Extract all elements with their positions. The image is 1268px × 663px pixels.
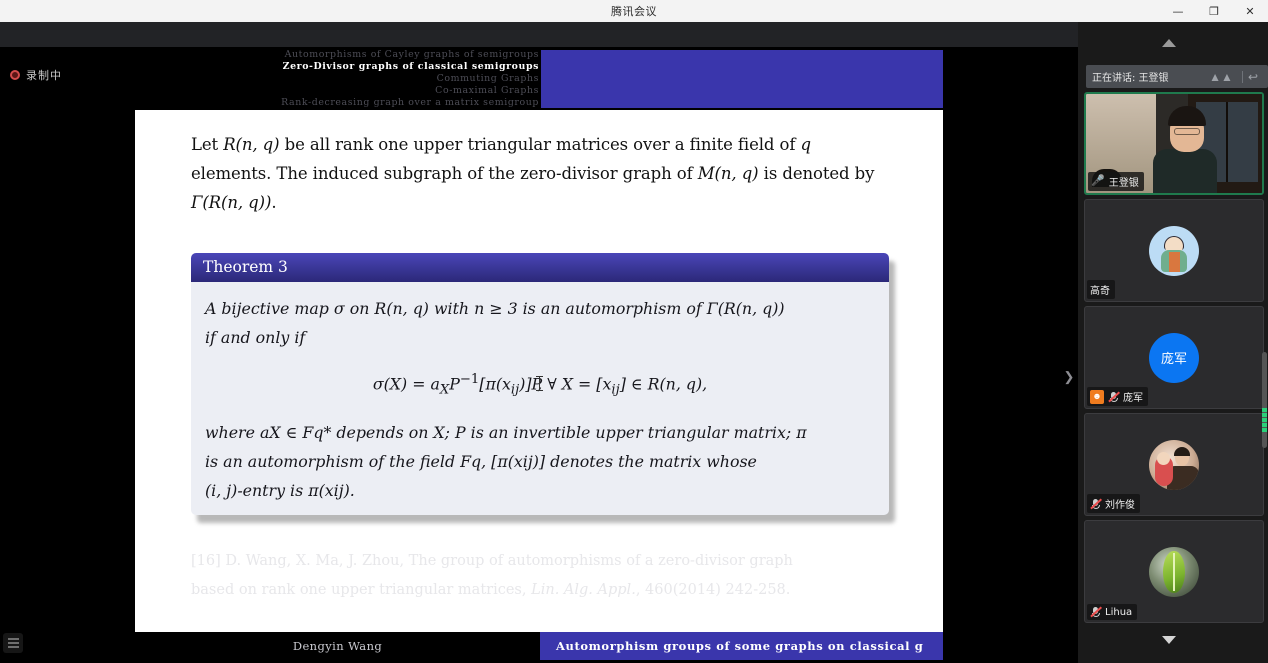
theorem-equation: σ(X) = aXP−1[π(xij)]P, ∀ X = [xij] ∈ R(n… (205, 365, 875, 404)
biblio-line-2: based on rank one upper triangular matri… (191, 576, 887, 605)
intro-text-c: elements. The induced subgraph of the ze… (191, 164, 698, 183)
host-icon: ☻ (1090, 390, 1104, 404)
mic-on-icon: 🎤 (1091, 176, 1105, 187)
chevron-right-icon[interactable]: ❯ (1062, 367, 1076, 387)
mountains-icon[interactable]: ▲▲ (1209, 70, 1233, 84)
theorem-block: Theorem 3 A bijective map σ on R(n, q) w… (191, 253, 889, 515)
shared-slide: Automorphisms of Cayley graphs of semigr… (135, 48, 943, 660)
slide-header: Automorphisms of Cayley graphs of semigr… (135, 48, 943, 110)
intro-symbol-R: R(n, q) (223, 135, 279, 154)
participant-name-badge: Lihua (1087, 604, 1137, 620)
close-icon[interactable]: ✕ (1232, 0, 1268, 22)
participants-sidebar: 正在讲话: 王登银 ▲▲ ↩ (1078, 22, 1268, 663)
theorem-line-3: where aX ∈ Fq* depends on X; P is an inv… (205, 418, 875, 447)
eq-sup-inverse: −1 (460, 372, 479, 387)
slide-intro-paragraph: Let R(n, q) be all rank one upper triang… (191, 130, 887, 217)
theorem-line-1: A bijective map σ on R(n, q) with n ≥ 3 … (205, 294, 875, 323)
footer-author: Dengyin Wang (135, 639, 540, 653)
eq-part-P: P (449, 374, 460, 393)
stage-top-strip (0, 22, 1078, 47)
divider (1242, 71, 1243, 83)
meeting-stage: 录制中 Automorphisms of Cayley graphs of se… (0, 22, 1078, 663)
theorem-content: A bijective map σ on R(n, q) with n ≥ 3 … (191, 282, 889, 515)
participant-tile[interactable]: 刘作俊 (1084, 413, 1264, 516)
theorem-line-5: (i, j)-entry is π(xij). (205, 476, 875, 505)
intro-symbol-q: q (801, 135, 811, 154)
recording-label: 录制中 (26, 67, 62, 83)
participant-name: 王登银 (1109, 174, 1139, 189)
window-controls: — ❐ ✕ (1160, 0, 1268, 22)
mic-muted-icon (1108, 391, 1119, 403)
volume-meter-icon (1262, 392, 1267, 432)
participant-name: Lihua (1105, 607, 1132, 618)
minimize-icon[interactable]: — (1160, 0, 1196, 22)
restore-icon[interactable]: ❐ (1196, 0, 1232, 22)
intro-text-b: be all rank one upper triangular matrice… (279, 135, 800, 154)
slide-nav-item-2[interactable]: Commuting Graphs (437, 73, 539, 85)
participant-tile[interactable]: 高奇 (1084, 199, 1264, 302)
text-cursor-icon (539, 376, 540, 391)
reply-arrow-icon[interactable]: ↩ (1248, 70, 1258, 84)
scroll-up-button[interactable] (1078, 30, 1260, 56)
eq-sub-X: X (440, 382, 449, 397)
theorem-line-2: if and only if (205, 323, 875, 352)
theorem-line-4: is an automorphism of the field Fq, [π(x… (205, 447, 875, 476)
bibliography-reference: [16] D. Wang, X. Ma, J. Zhou, The group … (191, 547, 887, 605)
avatar-initials: 庞军 (1161, 348, 1187, 367)
biblio-line-2-b: , 460(2014) 242-258. (636, 582, 791, 598)
avatar (1149, 440, 1199, 490)
avatar: 庞军 (1149, 333, 1199, 383)
triangle-up-icon (1162, 39, 1176, 47)
participant-name-badge: 🎤 王登银 (1088, 172, 1144, 191)
active-speaker-bar: 正在讲话: 王登银 ▲▲ ↩ (1086, 65, 1268, 88)
video-person-glasses (1174, 128, 1200, 135)
active-speaker-label: 正在讲话: 王登银 (1092, 69, 1209, 84)
video-bg-divider (1226, 102, 1228, 182)
intro-text-d: is (759, 164, 778, 183)
theorem-box: Theorem 3 A bijective map σ on R(n, q) w… (191, 253, 889, 515)
window-titlebar: 腾讯会议 — ❐ ✕ (0, 0, 1268, 22)
participant-name: 高奇 (1090, 282, 1110, 297)
avatar (1149, 226, 1199, 276)
participant-tile-list: 🎤 王登银 高奇 庞军 (1084, 92, 1268, 637)
scroll-down-button[interactable] (1078, 627, 1260, 653)
intro-symbol-gamma: Γ(R(n, q)) (191, 193, 271, 212)
slide-footer: Dengyin Wang Automorphism groups of some… (135, 632, 943, 660)
record-dot-icon (10, 70, 20, 80)
slide-nav-list: Automorphisms of Cayley graphs of semigr… (135, 48, 541, 110)
eq-part-end: ] ∈ R(n, q), (620, 374, 707, 393)
slide-nav-item-4[interactable]: Rank-decreasing graph over a matrix semi… (281, 97, 539, 109)
intro-text-e: denoted by (782, 164, 874, 183)
slide-nav-item-0[interactable]: Automorphisms of Cayley graphs of semigr… (285, 49, 539, 61)
participant-tile[interactable]: 🎤 王登银 (1084, 92, 1264, 195)
participant-name-badge: ☻ 庞军 (1087, 387, 1148, 406)
participant-tile[interactable]: 庞军 ☻ 庞军 (1084, 306, 1264, 409)
slide-header-accent-bar (541, 50, 943, 108)
theorem-title: Theorem 3 (191, 253, 889, 282)
avatar-hair (1174, 447, 1190, 456)
participant-name-badge: 刘作俊 (1087, 494, 1140, 513)
biblio-line-2-a: based on rank one upper triangular matri… (191, 582, 531, 598)
participant-name: 庞军 (1123, 389, 1143, 404)
intro-text-a: Let (191, 135, 223, 154)
eq-part-pre: σ(X) = a (373, 374, 440, 393)
intro-text-f: . (271, 193, 276, 212)
recording-indicator: 录制中 (10, 67, 62, 83)
intro-symbol-M: M(n, q) (698, 164, 759, 183)
eq-sub-ij-2: ij (611, 382, 619, 397)
eq-sub-ij-1: ij (511, 382, 519, 397)
list-view-icon[interactable] (3, 633, 23, 653)
avatar-leaf-vein (1173, 553, 1175, 591)
avatar-child-head (1157, 452, 1170, 465)
participant-name: 刘作俊 (1105, 496, 1135, 511)
participant-tile[interactable]: Lihua (1084, 520, 1264, 623)
slide-nav-item-1[interactable]: Zero-Divisor graphs of classical semigro… (283, 61, 539, 73)
mic-muted-icon (1090, 606, 1101, 618)
meeting-window: 腾讯会议 — ❐ ✕ 录制中 Automorphisms of Cayley g… (0, 0, 1268, 663)
triangle-down-icon (1162, 636, 1176, 644)
mic-muted-icon (1090, 498, 1101, 510)
footer-title: Automorphism groups of some graphs on cl… (540, 632, 943, 660)
slide-body: Let R(n, q) be all rank one upper triang… (135, 110, 943, 632)
participant-name-badge: 高奇 (1087, 280, 1115, 299)
avatar-sash (1169, 252, 1180, 272)
video-person-body (1153, 149, 1217, 193)
app-title: 腾讯会议 (611, 3, 657, 19)
eq-part-post: , ∀ X = [x (537, 374, 611, 393)
biblio-line-1: [16] D. Wang, X. Ma, J. Zhou, The group … (191, 547, 887, 576)
slide-nav-item-3[interactable]: Co-maximal Graphs (435, 85, 539, 97)
eq-part-pi: [π(x (479, 374, 511, 393)
biblio-journal: Lin. Alg. Appl. (531, 582, 636, 598)
avatar (1149, 547, 1199, 597)
